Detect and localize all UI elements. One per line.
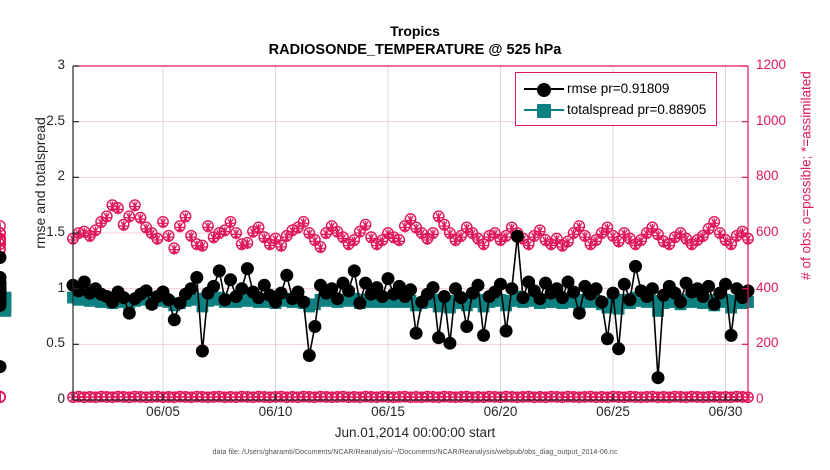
obs-assimilated-marker xyxy=(197,242,207,252)
rmse-marker xyxy=(630,260,642,272)
rmse-marker xyxy=(275,287,287,299)
chart-legend[interactable]: rmse pr=0.91809totalspread pr=0.88905 xyxy=(515,72,717,126)
obs-series xyxy=(0,202,753,257)
obs-assimilated-marker xyxy=(85,232,95,242)
rmse-marker xyxy=(646,283,658,295)
obs-series xyxy=(0,391,753,402)
obs-assimilated-marker xyxy=(479,241,489,251)
legend-item-rmse[interactable]: rmse pr=0.91809 xyxy=(524,78,706,99)
obs-assimilated-marker xyxy=(130,202,140,212)
obs-assimilated-marker xyxy=(411,224,421,234)
obs-assimilated-marker xyxy=(473,235,483,245)
rmse-marker xyxy=(0,361,6,373)
rmse-marker xyxy=(253,292,265,304)
rmse-marker xyxy=(78,276,90,288)
chart-page: Tropics RADIOSONDE_TEMPERATURE @ 525 hPa… xyxy=(0,0,830,470)
legend-square-icon xyxy=(537,104,551,118)
obs-assimilated-marker xyxy=(332,228,342,238)
rmse-marker xyxy=(613,343,625,355)
obs-assimilated-marker xyxy=(467,229,477,239)
obs-assimilated-marker xyxy=(434,213,444,223)
legend-label: rmse pr=0.91809 xyxy=(567,81,669,96)
obs-assimilated-marker xyxy=(226,218,236,228)
obs-assimilated-marker xyxy=(619,229,629,239)
obs-assimilated-marker xyxy=(91,227,101,237)
obs-assimilated-marker xyxy=(169,245,179,255)
obs-assimilated-marker xyxy=(726,241,736,251)
rmse-marker xyxy=(382,273,394,285)
obs-assimilated-marker xyxy=(681,235,691,245)
obs-assimilated-marker xyxy=(462,224,472,234)
rmse-marker xyxy=(708,298,720,310)
rmse-marker xyxy=(624,294,636,306)
rmse-marker xyxy=(196,345,208,357)
rmse-marker xyxy=(472,279,484,291)
rmse-marker xyxy=(438,291,450,303)
legend-swatch xyxy=(524,103,564,117)
rmse-marker xyxy=(236,283,248,295)
rmse-marker xyxy=(191,272,203,284)
rmse-marker xyxy=(213,265,225,277)
obs-assimilated-marker xyxy=(580,232,590,242)
obs-assimilated-marker xyxy=(231,229,241,239)
rmse-marker xyxy=(556,292,568,304)
rmse-marker xyxy=(376,291,388,303)
rmse-marker xyxy=(163,294,175,306)
rmse-marker xyxy=(478,329,490,341)
rmse-marker xyxy=(427,282,439,294)
legend-swatch xyxy=(524,82,564,96)
rmse-marker xyxy=(596,296,608,308)
rmse-marker xyxy=(303,350,315,362)
obs-assimilated-marker xyxy=(203,222,213,232)
obs-assimilated-marker xyxy=(147,229,157,239)
rmse-marker xyxy=(511,230,523,242)
obs-assimilated-marker xyxy=(394,236,404,246)
obs-assimilated-marker xyxy=(299,218,309,228)
obs-assimilated-marker xyxy=(563,238,573,248)
obs-assimilated-marker xyxy=(501,232,511,242)
rmse-marker xyxy=(725,329,737,341)
rmse-marker xyxy=(675,296,687,308)
rmse-marker xyxy=(720,278,732,290)
legend-circle-icon xyxy=(537,83,551,97)
obs-assimilated-marker xyxy=(141,224,151,234)
rmse-marker xyxy=(118,292,130,304)
obs-assimilated-marker xyxy=(456,232,466,242)
rmse-marker xyxy=(410,327,422,339)
obs-assimilated-marker xyxy=(175,222,185,232)
plot-canvas xyxy=(0,0,830,470)
rmse-marker xyxy=(168,314,180,326)
rmse-marker xyxy=(652,372,664,384)
obs-assimilated-marker xyxy=(113,204,123,214)
rmse-marker xyxy=(123,307,135,319)
obs-assimilated-marker xyxy=(614,238,624,248)
rmse-marker xyxy=(703,280,715,292)
obs-assimilated-marker xyxy=(152,235,162,245)
rmse-marker xyxy=(360,277,372,289)
obs-assimilated-marker xyxy=(546,241,556,251)
obs-assimilated-marker xyxy=(119,221,129,231)
rmse-marker xyxy=(517,292,529,304)
obs-assimilated-marker xyxy=(186,232,196,242)
rmse-marker xyxy=(573,307,585,319)
obs-assimilated-marker xyxy=(158,218,168,228)
obs-assimilated-marker xyxy=(74,229,84,239)
rmse-marker xyxy=(444,337,456,349)
legend-item-totalspread[interactable]: totalspread pr=0.88905 xyxy=(524,99,706,120)
obs-assimilated-marker xyxy=(237,241,247,251)
rmse-marker xyxy=(495,278,507,290)
obs-assimilated-marker xyxy=(608,232,618,242)
rmse-marker xyxy=(568,286,580,298)
rmse-marker xyxy=(534,293,546,305)
rmse-marker xyxy=(348,265,360,277)
rmse-marker xyxy=(309,321,321,333)
obs-assimilated-marker xyxy=(428,229,438,239)
rmse-marker xyxy=(343,285,355,297)
rmse-marker xyxy=(185,283,197,295)
obs-assimilated-marker xyxy=(192,241,202,251)
obs-assimilated-marker xyxy=(242,239,252,249)
obs-assimilated-marker xyxy=(524,241,534,251)
obs-assimilated-marker xyxy=(102,213,112,223)
rmse-marker xyxy=(331,293,343,305)
rmse-marker xyxy=(208,280,220,292)
obs-assimilated-marker xyxy=(417,229,427,239)
rmse-marker xyxy=(0,252,6,264)
rmse-marker xyxy=(281,269,293,281)
obs-assimilated-marker xyxy=(422,235,432,245)
obs-assimilated-marker xyxy=(529,232,539,242)
rmse-marker xyxy=(405,284,417,296)
legend-label: totalspread pr=0.88905 xyxy=(567,102,706,117)
obs-assimilated-marker xyxy=(96,218,106,228)
rmse-marker xyxy=(601,333,613,345)
rmse-marker xyxy=(500,325,512,337)
rmse-marker xyxy=(506,283,518,295)
rmse-marker xyxy=(590,283,602,295)
obs-assimilated-marker xyxy=(625,235,635,245)
obs-assimilated-marker xyxy=(439,221,449,231)
obs-assimilated-marker xyxy=(349,236,359,246)
rmse-marker xyxy=(607,287,619,299)
rmse-marker xyxy=(618,278,630,290)
rmse-marker xyxy=(433,332,445,344)
rmse-marker xyxy=(461,321,473,333)
rmse-marker xyxy=(354,297,366,309)
rmse-marker xyxy=(241,263,253,275)
obs-assimilated-marker xyxy=(124,213,134,223)
rmse-marker xyxy=(298,296,310,308)
rmse-marker xyxy=(225,274,237,286)
obs-assimilated-marker xyxy=(164,232,174,242)
obs-assimilated-marker xyxy=(676,229,686,239)
obs-assimilated-marker xyxy=(602,224,612,234)
rmse-marker xyxy=(140,285,152,297)
rmse-marker xyxy=(455,292,467,304)
rmse-marker xyxy=(219,294,231,306)
